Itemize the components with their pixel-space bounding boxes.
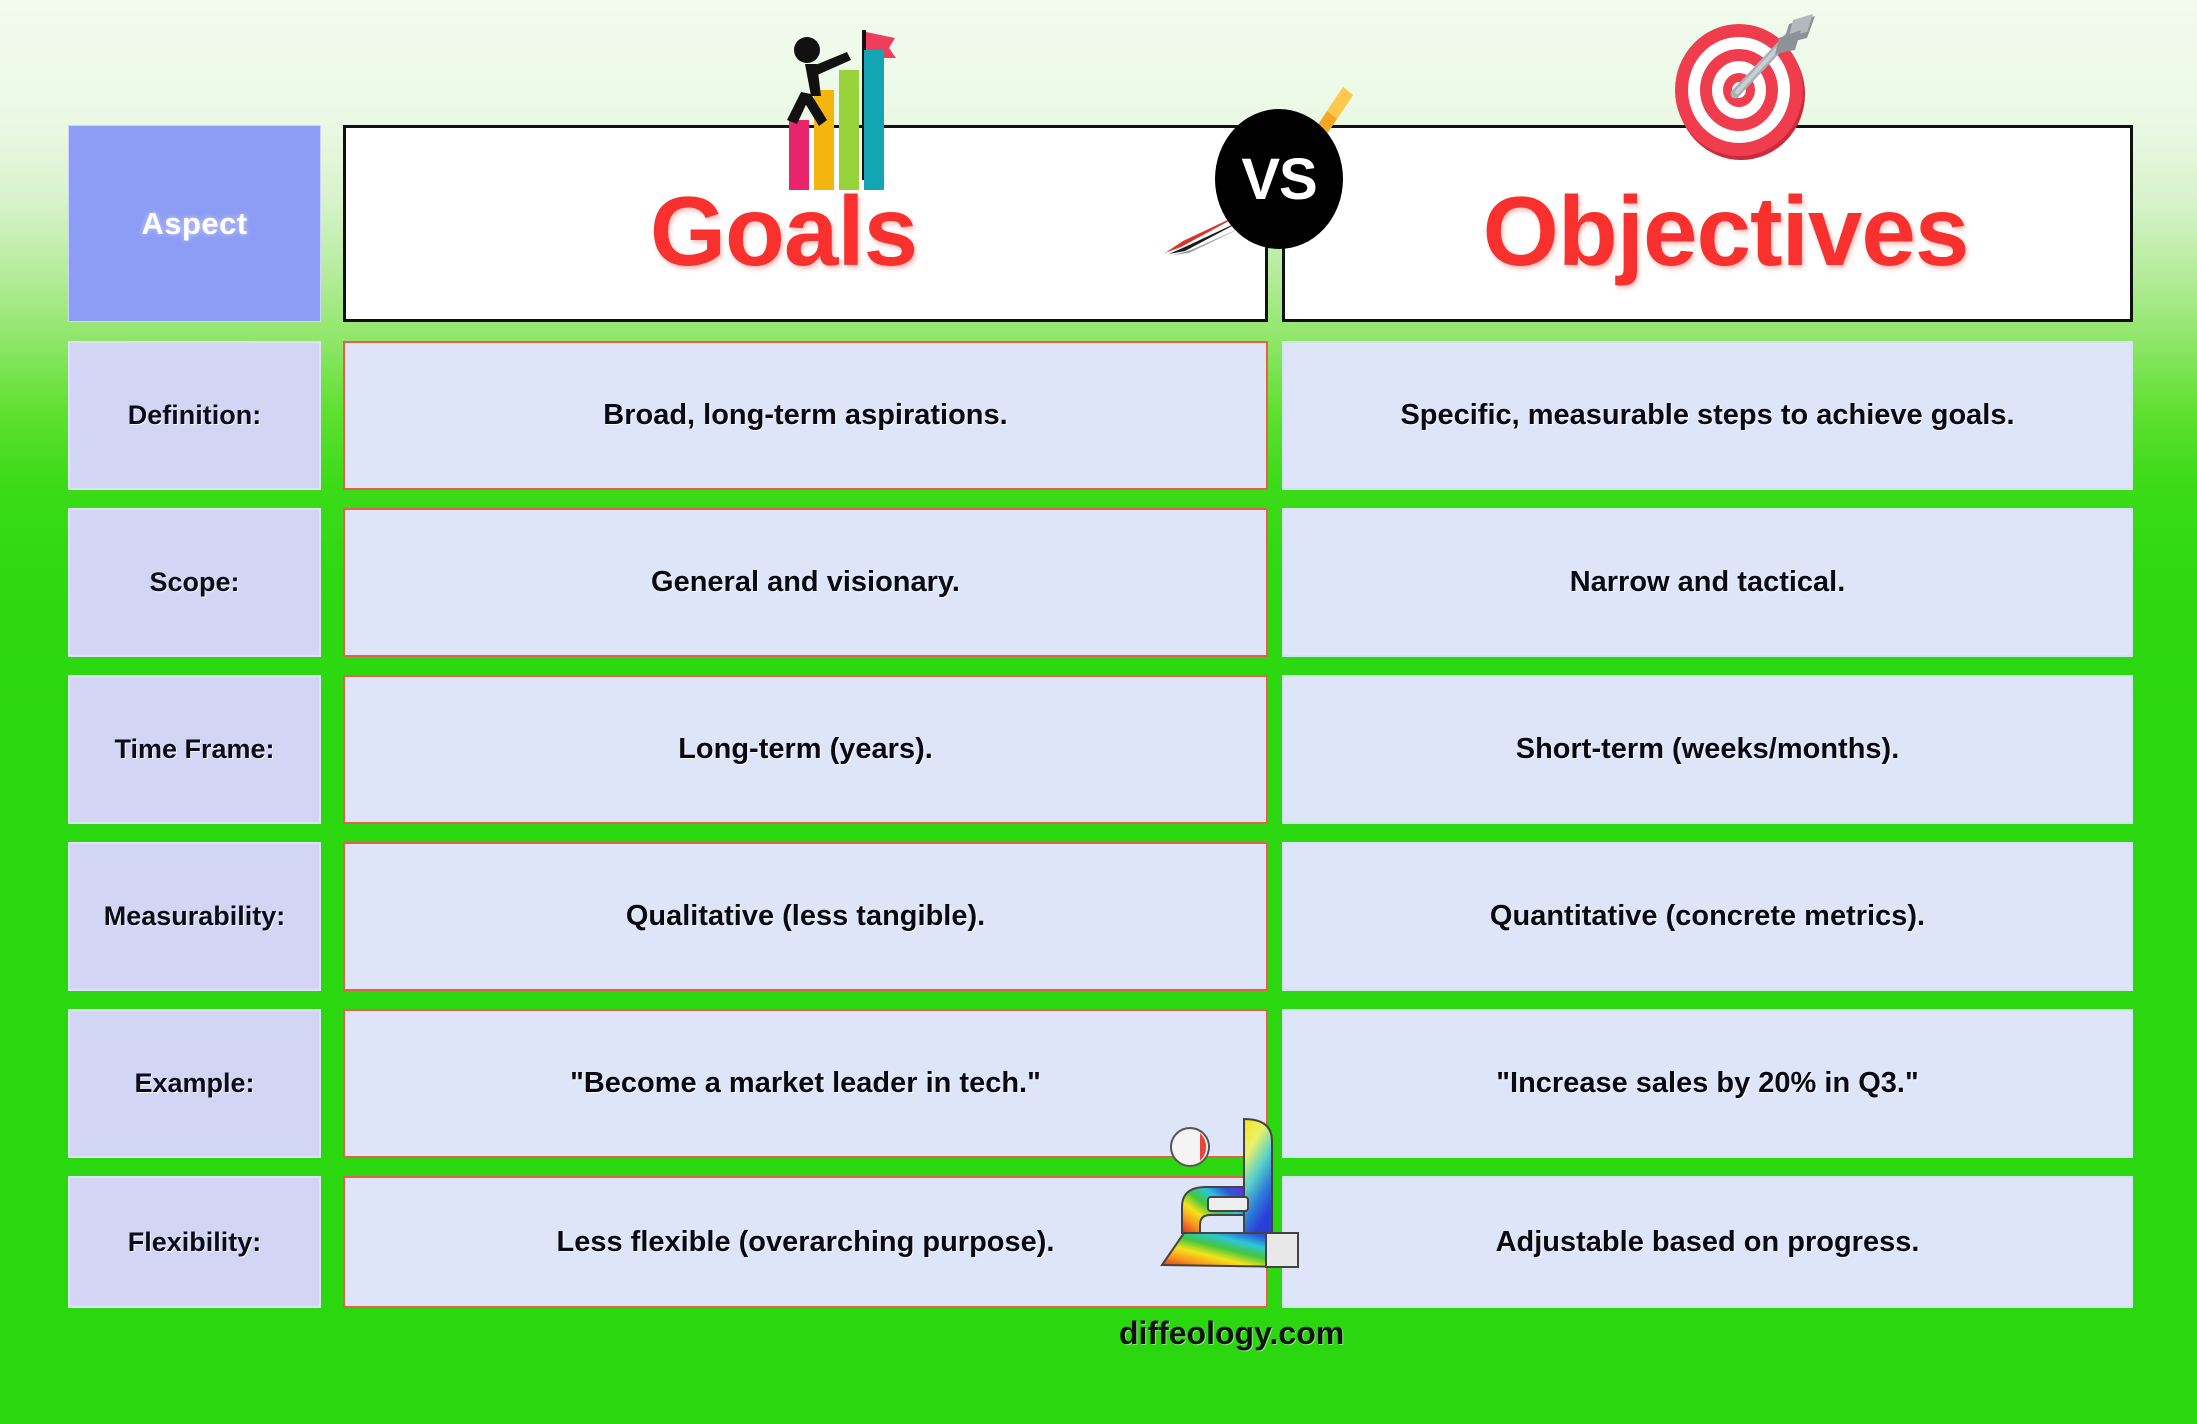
objectives-cell-example: "Increase sales by 20% in Q3." <box>1282 1009 2133 1158</box>
row-label-scope: Scope: <box>68 508 321 657</box>
row-label-definition: Definition: <box>68 341 321 490</box>
diffeology-logo-icon <box>1148 1115 1338 1295</box>
cell-text: Short-term (weeks/months). <box>1498 733 1918 766</box>
row-label-text: Scope: <box>149 567 239 598</box>
cell-text: "Become a market leader in tech." <box>552 1067 1059 1100</box>
row-label-text: Definition: <box>128 400 261 431</box>
objectives-cell-measurability: Quantitative (concrete metrics). <box>1282 842 2133 991</box>
objectives-cell-scope: Narrow and tactical. <box>1282 508 2133 657</box>
aspect-header-label: Aspect <box>141 206 247 242</box>
cell-text: Quantitative (concrete metrics). <box>1472 900 1943 933</box>
row-label-text: Measurability: <box>104 901 286 932</box>
cell-text: Qualitative (less tangible). <box>608 900 1003 933</box>
row-label-example: Example: <box>68 1009 321 1158</box>
bar-chart-climber-flag-icon <box>755 8 900 200</box>
goals-cell-flexibility: Less flexible (overarching purpose). <box>343 1176 1268 1308</box>
cell-text: Specific, measurable steps to achieve go… <box>1382 399 2032 432</box>
row-label-text: Flexibility: <box>128 1227 262 1258</box>
cell-text: General and visionary. <box>633 566 978 599</box>
comparison-table: Aspect Goals Objectives Definition: Broa… <box>68 117 2133 1317</box>
goals-cell-time-frame: Long-term (years). <box>343 675 1268 824</box>
cell-text: "Increase sales by 20% in Q3." <box>1478 1067 1936 1100</box>
row-label-flexibility: Flexibility: <box>68 1176 321 1308</box>
goals-cell-definition: Broad, long-term aspirations. <box>343 341 1268 490</box>
objectives-cell-definition: Specific, measurable steps to achieve go… <box>1282 341 2133 490</box>
vs-badge-icon: VS <box>1215 109 1343 249</box>
objectives-cell-time-frame: Short-term (weeks/months). <box>1282 675 2133 824</box>
row-label-measurability: Measurability: <box>68 842 321 991</box>
watermark-text: diffeology.com <box>1119 1315 1344 1352</box>
goals-cell-example: "Become a market leader in tech." <box>343 1009 1268 1158</box>
cell-text: Broad, long-term aspirations. <box>585 399 1025 432</box>
cell-text: Long-term (years). <box>660 733 951 766</box>
goals-cell-scope: General and visionary. <box>343 508 1268 657</box>
cell-text: Less flexible (overarching purpose). <box>539 1226 1073 1259</box>
goals-cell-measurability: Qualitative (less tangible). <box>343 842 1268 991</box>
objectives-cell-flexibility: Adjustable based on progress. <box>1282 1176 2133 1308</box>
row-label-text: Example: <box>134 1068 254 1099</box>
cell-text: Narrow and tactical. <box>1552 566 1864 599</box>
cell-text: Adjustable based on progress. <box>1478 1226 1938 1259</box>
row-label-time-frame: Time Frame: <box>68 675 321 824</box>
aspect-header-cell: Aspect <box>68 125 321 322</box>
row-label-text: Time Frame: <box>114 734 274 765</box>
target-arrow-icon <box>1663 8 1823 168</box>
objectives-title: Objectives <box>1483 175 1969 288</box>
vs-label: VS <box>1215 109 1343 249</box>
